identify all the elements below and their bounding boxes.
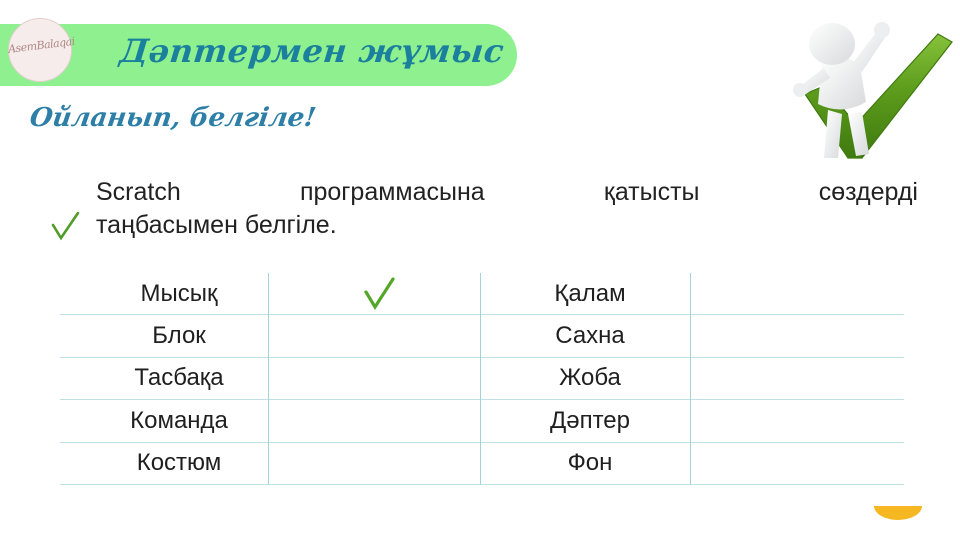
cell-word-right: Фон bbox=[490, 443, 690, 484]
instruction-word-sozderdi: сөздерді bbox=[819, 176, 918, 209]
cell-mark-right[interactable] bbox=[690, 273, 904, 314]
word-label: Команда bbox=[130, 407, 228, 435]
table-divider-3 bbox=[690, 273, 691, 485]
table-divider-2 bbox=[480, 273, 481, 485]
slide-canvas: AsemBalaqai Дәптермен жұмыс Ойланып, бел… bbox=[0, 0, 960, 540]
cell-mark-left[interactable] bbox=[268, 358, 490, 399]
cell-mark-right[interactable] bbox=[690, 443, 904, 484]
instruction-check-icon bbox=[50, 212, 80, 242]
table-row: Мысық Қалам bbox=[60, 273, 904, 315]
table-divider-1 bbox=[268, 273, 269, 485]
cell-mark-right[interactable] bbox=[690, 315, 904, 356]
word-label: Костюм bbox=[137, 449, 222, 477]
instruction-word-qatysty: қатысты bbox=[604, 176, 700, 209]
cell-mark-right[interactable] bbox=[690, 400, 904, 441]
cell-word-right: Сахна bbox=[490, 315, 690, 356]
cell-word-left: Мысық bbox=[90, 273, 268, 314]
word-label: Блок bbox=[152, 322, 206, 350]
table-row: Костюм Фон bbox=[60, 443, 904, 485]
word-label: Мысық bbox=[141, 280, 218, 308]
crescent-decoration bbox=[874, 506, 922, 520]
cell-word-right: Қалам bbox=[490, 273, 690, 314]
instruction-line-1: Scratch программасына қатысты сөздерді bbox=[96, 176, 918, 209]
mascot-illustration bbox=[770, 6, 955, 171]
cell-word-right: Дәптер bbox=[490, 400, 690, 441]
word-label: Сахна bbox=[555, 322, 625, 350]
instruction-line-2: таңбасымен белгіле. bbox=[96, 209, 918, 242]
check-icon bbox=[362, 277, 396, 311]
word-label: Қалам bbox=[554, 280, 625, 308]
word-label: Дәптер bbox=[550, 407, 630, 435]
cell-word-right: Жоба bbox=[490, 358, 690, 399]
instruction-word-programmasyna: программасына bbox=[300, 176, 485, 209]
watermark-logo: AsemBalaqai bbox=[8, 18, 72, 82]
cell-word-left: Команда bbox=[90, 400, 268, 441]
table-row: Тасбақа Жоба bbox=[60, 358, 904, 400]
page-title: Дәптермен жұмыс bbox=[118, 32, 506, 70]
cell-word-left: Тасбақа bbox=[90, 358, 268, 399]
subtitle: Ойланып, белгіле! bbox=[28, 103, 318, 133]
cell-word-left: Костюм bbox=[90, 443, 268, 484]
word-table: Мысық Қалам Блок Сахна bbox=[60, 273, 904, 485]
instruction-text: Scratch программасына қатысты сөздерді т… bbox=[96, 176, 918, 242]
cell-mark-left[interactable] bbox=[268, 273, 490, 314]
cell-mark-left[interactable] bbox=[268, 315, 490, 356]
table-row: Команда Дәптер bbox=[60, 400, 904, 442]
table-row: Блок Сахна bbox=[60, 315, 904, 357]
instruction-word-scratch: Scratch bbox=[96, 176, 181, 209]
word-label: Фон bbox=[568, 449, 613, 477]
word-label: Жоба bbox=[559, 364, 621, 392]
cell-mark-left[interactable] bbox=[268, 443, 490, 484]
cell-mark-right[interactable] bbox=[690, 358, 904, 399]
cell-mark-left[interactable] bbox=[268, 400, 490, 441]
word-label: Тасбақа bbox=[134, 364, 223, 392]
cell-word-left: Блок bbox=[90, 315, 268, 356]
